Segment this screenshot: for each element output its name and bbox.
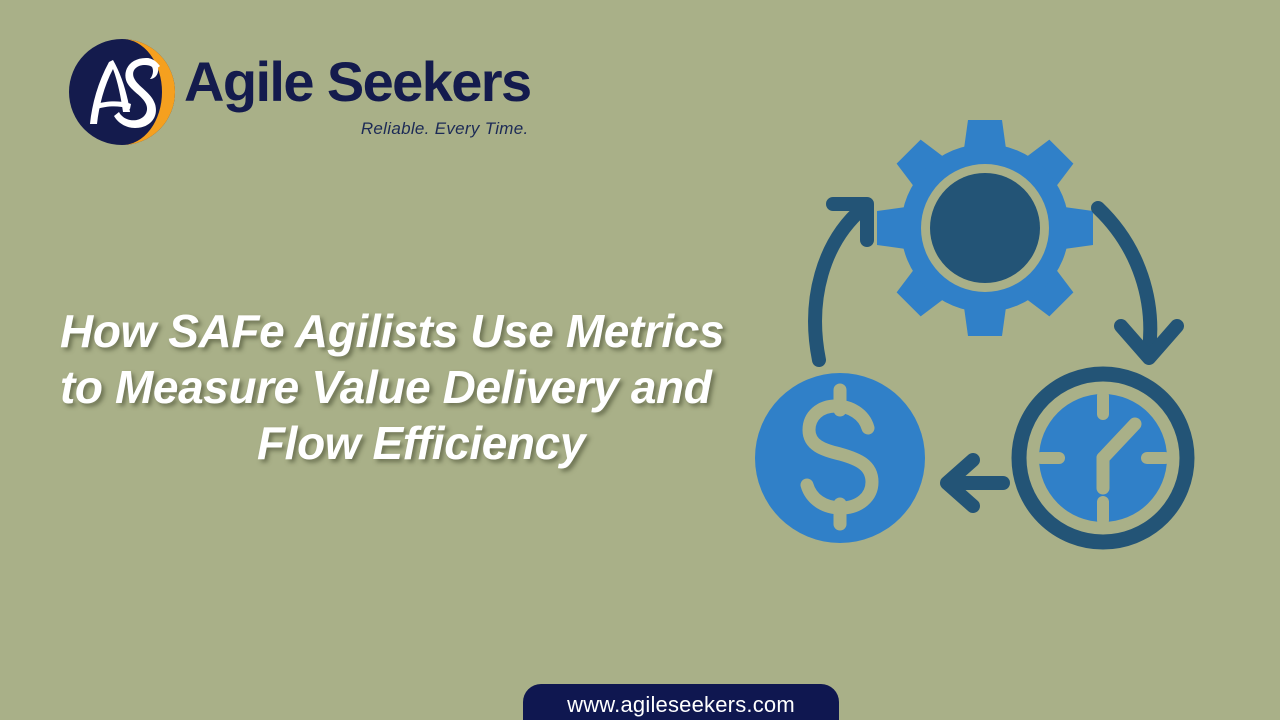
banner-canvas: Agile Seekers Reliable. Every Time. How … <box>0 0 1280 720</box>
value-flow-cycle-graphic <box>755 110 1215 570</box>
brand-text-block: Agile Seekers Reliable. Every Time. <box>184 38 531 139</box>
headline-line-3: Flow Efficiency <box>60 415 782 471</box>
curved-arrow-up-icon <box>815 204 867 360</box>
headline-line-1: How SAFe Agilists Use Metrics <box>60 303 782 359</box>
website-url-text: www.agileseekers.com <box>567 692 795 718</box>
headline-line-2: to Measure Value Delivery and <box>60 359 782 415</box>
brand-logo[interactable]: Agile Seekers Reliable. Every Time. <box>68 38 531 146</box>
brand-tagline: Reliable. Every Time. <box>361 119 529 139</box>
curved-arrow-down-icon <box>1098 208 1177 358</box>
website-url-badge[interactable]: www.agileseekers.com <box>523 684 839 720</box>
arrow-left-icon <box>947 460 1003 506</box>
clock-icon <box>1019 374 1187 542</box>
headline: How SAFe Agilists Use Metrics to Measure… <box>60 303 782 471</box>
agile-seekers-monogram-icon <box>68 38 176 146</box>
brand-name: Agile Seekers <box>184 54 531 110</box>
dollar-coin-icon <box>755 373 925 543</box>
gear-icon <box>877 120 1093 336</box>
